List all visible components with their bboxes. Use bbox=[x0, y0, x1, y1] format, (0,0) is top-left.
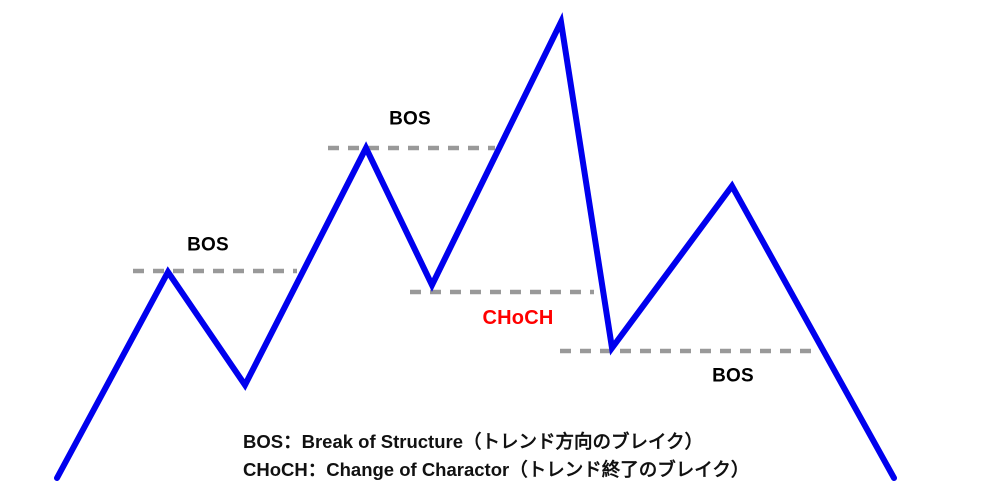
chart-canvas: BOS BOS CHoCH BOS BOS：Break of Structure… bbox=[0, 0, 1000, 500]
legend-line-bos: BOS：Break of Structure（トレンド方向のブレイク） bbox=[243, 428, 749, 456]
bos-label-1: BOS bbox=[187, 236, 229, 255]
choch-label: CHoCH bbox=[483, 308, 554, 328]
price-line bbox=[57, 22, 894, 478]
bos-label-2: BOS bbox=[389, 110, 431, 129]
price-structure-chart bbox=[0, 0, 1000, 500]
legend-line-choch: CHoCH：Change of Charactor（トレンド終了のブレイク） bbox=[243, 456, 749, 484]
legend-block: BOS：Break of Structure（トレンド方向のブレイク） CHoC… bbox=[243, 428, 749, 484]
bos-label-3: BOS bbox=[712, 367, 754, 386]
